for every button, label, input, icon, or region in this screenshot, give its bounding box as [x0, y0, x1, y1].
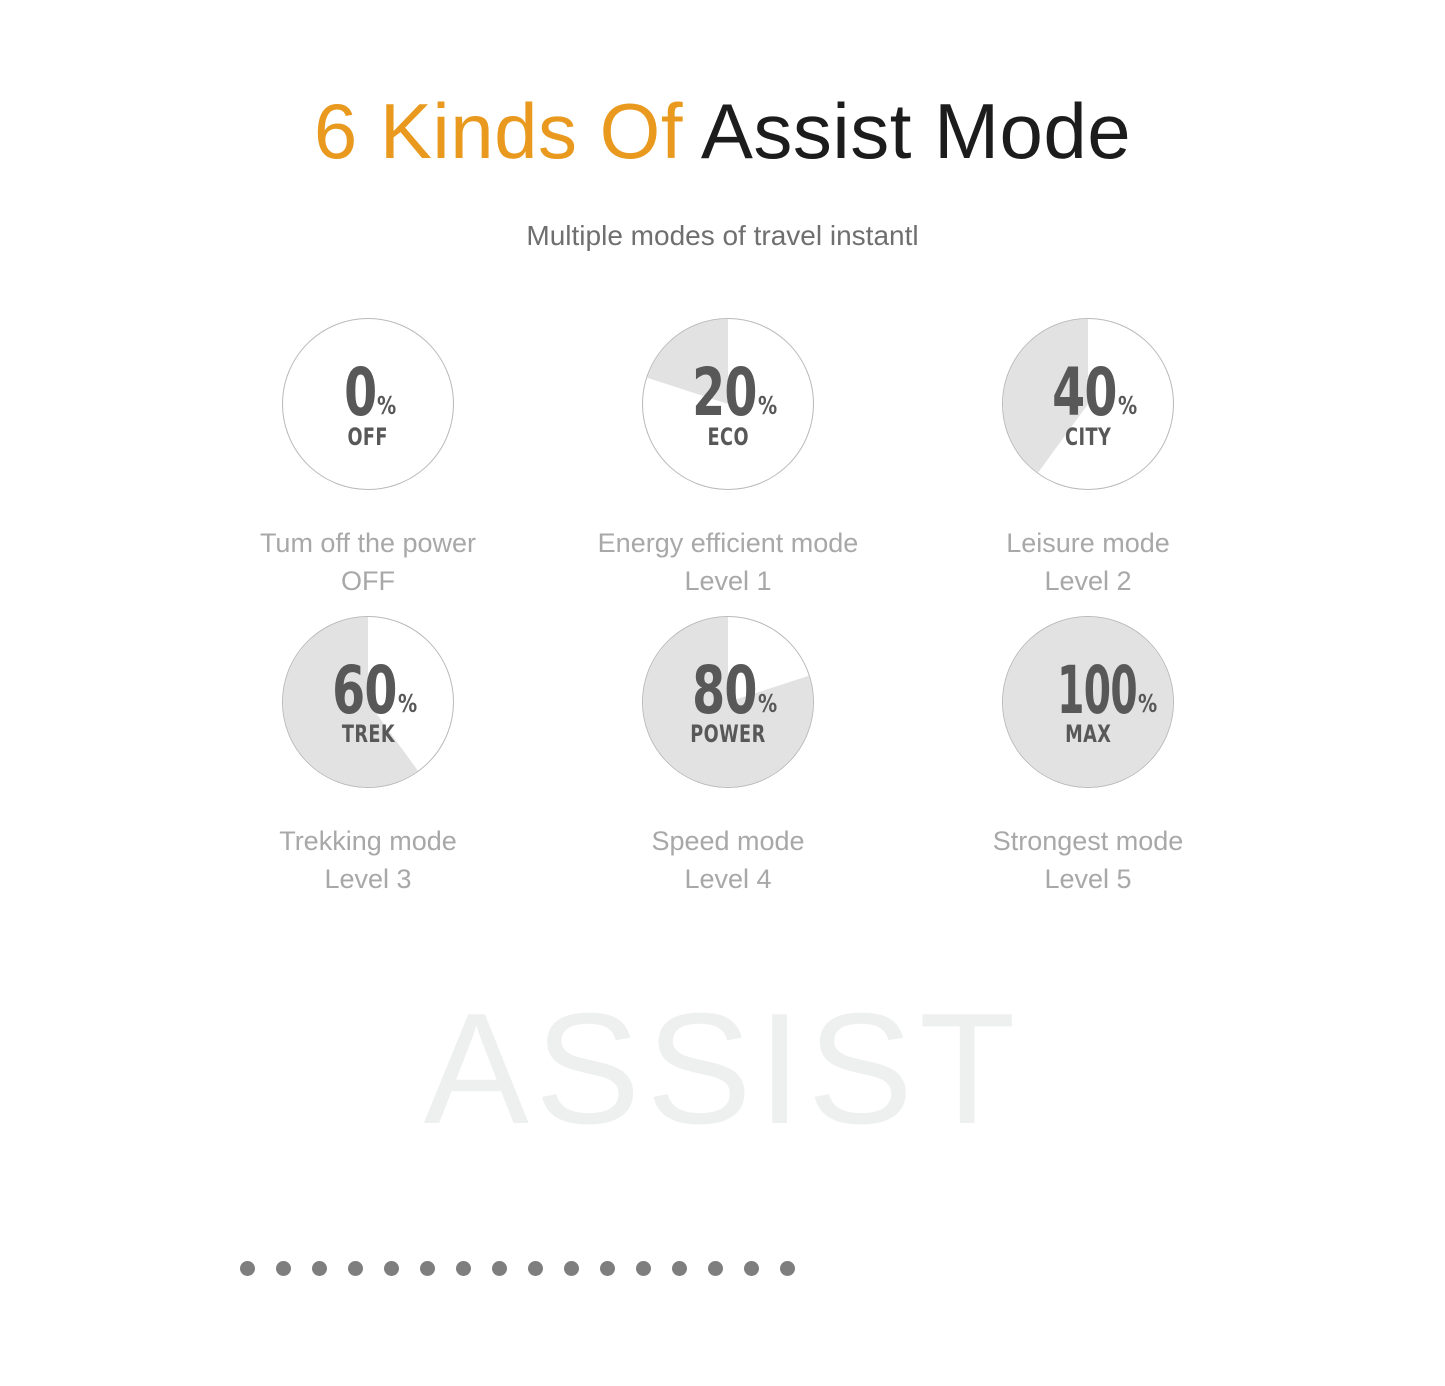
dial-value: 60 — [332, 663, 397, 718]
assist-mode-infographic: 6 Kinds Of Assist Mode Multiple modes of… — [0, 0, 1445, 1386]
percent-symbol: % — [758, 395, 777, 416]
mode-caption: Tum off the power OFF — [260, 524, 476, 601]
dot-indicator[interactable] — [276, 1261, 291, 1276]
mode-caption: Leisure mode Level 2 — [1006, 524, 1170, 601]
dot-indicator[interactable] — [420, 1261, 435, 1276]
caption-line-1: Strongest mode — [993, 822, 1184, 860]
mode-grid: 0 % OFF Tum off the power OFF — [188, 318, 1268, 898]
caption-line-1: Tum off the power — [260, 524, 476, 562]
page-title-plain: Assist Mode — [701, 87, 1131, 175]
dial-gauge-max: 100 % MAX — [1002, 616, 1174, 788]
dial-gauge-power: 80 % POWER — [642, 616, 814, 788]
dial-mode-name: TREK — [341, 722, 394, 746]
dial-gauge-trek: 60 % TREK — [282, 616, 454, 788]
caption-line-1: Trekking mode — [279, 822, 457, 860]
dial-value: 40 — [1052, 365, 1117, 420]
dot-indicator[interactable] — [636, 1261, 651, 1276]
mode-card-trek[interactable]: 60 % TREK Trekking mode Level 3 — [188, 616, 548, 899]
dial-face: 100 % MAX — [1003, 617, 1173, 787]
caption-line-1: Leisure mode — [1006, 524, 1170, 562]
dot-indicator[interactable] — [672, 1261, 687, 1276]
mode-card-power[interactable]: 80 % POWER Speed mode Level 4 — [548, 616, 908, 899]
caption-line-2: Level 4 — [651, 860, 804, 898]
dial-mode-name: CITY — [1065, 425, 1111, 449]
dial-mode-name: MAX — [1065, 722, 1111, 746]
dial-face: 0 % OFF — [283, 319, 453, 489]
dot-indicator[interactable] — [456, 1261, 471, 1276]
mode-row: 60 % TREK Trekking mode Level 3 — [188, 616, 1268, 899]
dial-face: 80 % POWER — [643, 617, 813, 787]
dial-value-row: 0 % — [336, 365, 400, 420]
mode-row: 0 % OFF Tum off the power OFF — [188, 318, 1268, 601]
dial-value: 80 — [692, 663, 757, 718]
dial-gauge-off: 0 % OFF — [282, 318, 454, 490]
caption-line-1: Speed mode — [651, 822, 804, 860]
dial-value-row: 60 % — [316, 663, 420, 718]
dot-indicator[interactable] — [780, 1261, 795, 1276]
percent-symbol: % — [377, 395, 396, 416]
mode-caption: Strongest mode Level 5 — [993, 822, 1184, 899]
dot-indicator[interactable] — [528, 1261, 543, 1276]
dial-value: 100 — [1057, 663, 1137, 718]
dot-indicator[interactable] — [312, 1261, 327, 1276]
dial-face: 60 % TREK — [283, 617, 453, 787]
dial-value-row: 40 % — [1036, 365, 1140, 420]
dot-indicator[interactable] — [564, 1261, 579, 1276]
caption-line-2: OFF — [260, 562, 476, 600]
percent-symbol: % — [758, 693, 777, 714]
mode-card-eco[interactable]: 20 % ECO Energy efficient mode Level 1 — [548, 318, 908, 601]
dial-value: 20 — [692, 365, 757, 420]
dots-strip — [240, 1261, 795, 1276]
caption-line-2: Level 2 — [1006, 562, 1170, 600]
caption-line-2: Level 1 — [598, 562, 859, 600]
percent-symbol: % — [1118, 395, 1137, 416]
dial-mode-name: OFF — [348, 425, 388, 449]
dial-face: 40 % CITY — [1003, 319, 1173, 489]
dial-face: 20 % ECO — [643, 319, 813, 489]
percent-symbol: % — [1138, 693, 1157, 714]
dot-indicator[interactable] — [492, 1261, 507, 1276]
mode-caption: Speed mode Level 4 — [651, 822, 804, 899]
dot-indicator[interactable] — [240, 1261, 255, 1276]
dial-value-row: 80 % — [676, 663, 780, 718]
dial-mode-name: POWER — [690, 722, 765, 746]
mode-card-city[interactable]: 40 % CITY Leisure mode Level 2 — [908, 318, 1268, 601]
dial-gauge-eco: 20 % ECO — [642, 318, 814, 490]
dot-indicator[interactable] — [348, 1261, 363, 1276]
mode-card-max[interactable]: 100 % MAX Strongest mode Level 5 — [908, 616, 1268, 899]
dot-indicator[interactable] — [600, 1261, 615, 1276]
page-title: 6 Kinds Of Assist Mode — [0, 92, 1445, 170]
mode-card-off[interactable]: 0 % OFF Tum off the power OFF — [188, 318, 548, 601]
dial-gauge-city: 40 % CITY — [1002, 318, 1174, 490]
dot-indicator[interactable] — [384, 1261, 399, 1276]
dot-indicator[interactable] — [708, 1261, 723, 1276]
caption-line-1: Energy efficient mode — [598, 524, 859, 562]
caption-line-2: Level 3 — [279, 860, 457, 898]
watermark-text: ASSIST — [0, 990, 1445, 1148]
caption-line-2: Level 5 — [993, 860, 1184, 898]
dial-value: 0 — [344, 365, 376, 420]
page-subtitle: Multiple modes of travel instantl — [0, 222, 1445, 250]
mode-caption: Energy efficient mode Level 1 — [598, 524, 859, 601]
dial-value-row: 100 % — [1016, 663, 1161, 718]
page-title-accent: 6 Kinds Of — [314, 87, 683, 175]
dial-mode-name: ECO — [707, 425, 748, 449]
percent-symbol: % — [398, 693, 417, 714]
dial-value-row: 20 % — [676, 365, 780, 420]
dot-indicator[interactable] — [744, 1261, 759, 1276]
mode-caption: Trekking mode Level 3 — [279, 822, 457, 899]
